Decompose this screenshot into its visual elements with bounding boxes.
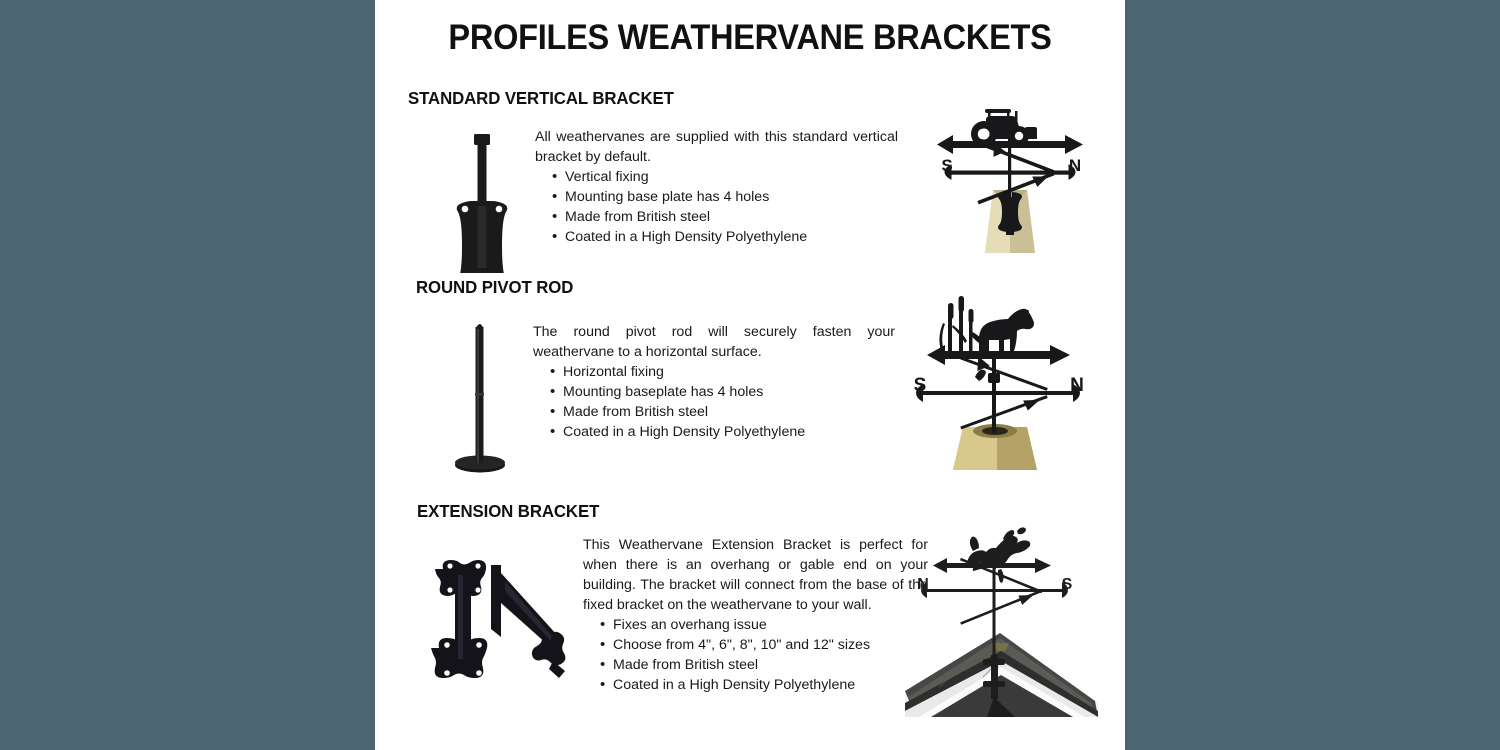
round-pivot-rod-illustration bbox=[430, 315, 530, 475]
extension-bracket-illustration bbox=[425, 543, 585, 693]
list-item: Made from British steel bbox=[533, 402, 895, 422]
compass-letter-south: S bbox=[941, 156, 952, 175]
compass-letter-south: S bbox=[1062, 576, 1073, 593]
compass-letter-north: N bbox=[1069, 156, 1081, 175]
list-item: Fixes an overhang issue bbox=[583, 615, 928, 635]
compass-letter-south: S bbox=[914, 375, 927, 396]
list-item: Mounting baseplate has 4 holes bbox=[533, 382, 895, 402]
dog-weathervane-on-wooden-post-photo: S N bbox=[905, 285, 1090, 470]
feature-list-round-pivot-rod: Horizontal fixing Mounting baseplate has… bbox=[533, 362, 895, 442]
page-title: PROFILES WEATHERVANE BRACKETS bbox=[401, 18, 1099, 58]
intro-paragraph-standard-vertical-bracket: All weathervanes are supplied with this … bbox=[535, 127, 898, 167]
weathervane-on-roof-gable-photo: N S bbox=[905, 525, 1098, 717]
compass-letter-north: N bbox=[1070, 375, 1084, 396]
feature-list-extension-bracket: Fixes an overhang issue Choose from 4", … bbox=[583, 615, 928, 695]
list-item: Made from British steel bbox=[583, 655, 928, 675]
list-item: Mounting base plate has 4 holes bbox=[535, 187, 898, 207]
body-text-extension-bracket: This Weathervane Extension Bracket is pe… bbox=[583, 535, 928, 695]
section-heading-round-pivot-rod: ROUND PIVOT ROD bbox=[416, 277, 573, 298]
tractor-weathervane-on-wooden-post-photo: S N bbox=[925, 93, 1095, 255]
intro-paragraph-round-pivot-rod: The round pivot rod will securely fasten… bbox=[533, 322, 895, 362]
intro-paragraph-extension-bracket: This Weathervane Extension Bracket is pe… bbox=[583, 535, 928, 615]
list-item: Coated in a High Density Polyethylene bbox=[533, 422, 895, 442]
feature-list-standard-vertical-bracket: Vertical fixing Mounting base plate has … bbox=[535, 167, 898, 247]
section-heading-standard-vertical-bracket: STANDARD VERTICAL BRACKET bbox=[408, 88, 674, 109]
list-item: Choose from 4", 6", 8", 10" and 12" size… bbox=[583, 635, 928, 655]
list-item: Coated in a High Density Polyethylene bbox=[583, 675, 928, 695]
body-text-standard-vertical-bracket: All weathervanes are supplied with this … bbox=[535, 127, 898, 247]
document-page: PROFILES WEATHERVANE BRACKETS STANDARD V… bbox=[375, 0, 1125, 750]
body-text-round-pivot-rod: The round pivot rod will securely fasten… bbox=[533, 322, 895, 442]
vertical-bracket-illustration bbox=[430, 128, 530, 273]
list-item: Horizontal fixing bbox=[533, 362, 895, 382]
list-item: Made from British steel bbox=[535, 207, 898, 227]
list-item: Coated in a High Density Polyethylene bbox=[535, 227, 898, 247]
section-heading-extension-bracket: EXTENSION BRACKET bbox=[417, 501, 599, 522]
list-item: Vertical fixing bbox=[535, 167, 898, 187]
